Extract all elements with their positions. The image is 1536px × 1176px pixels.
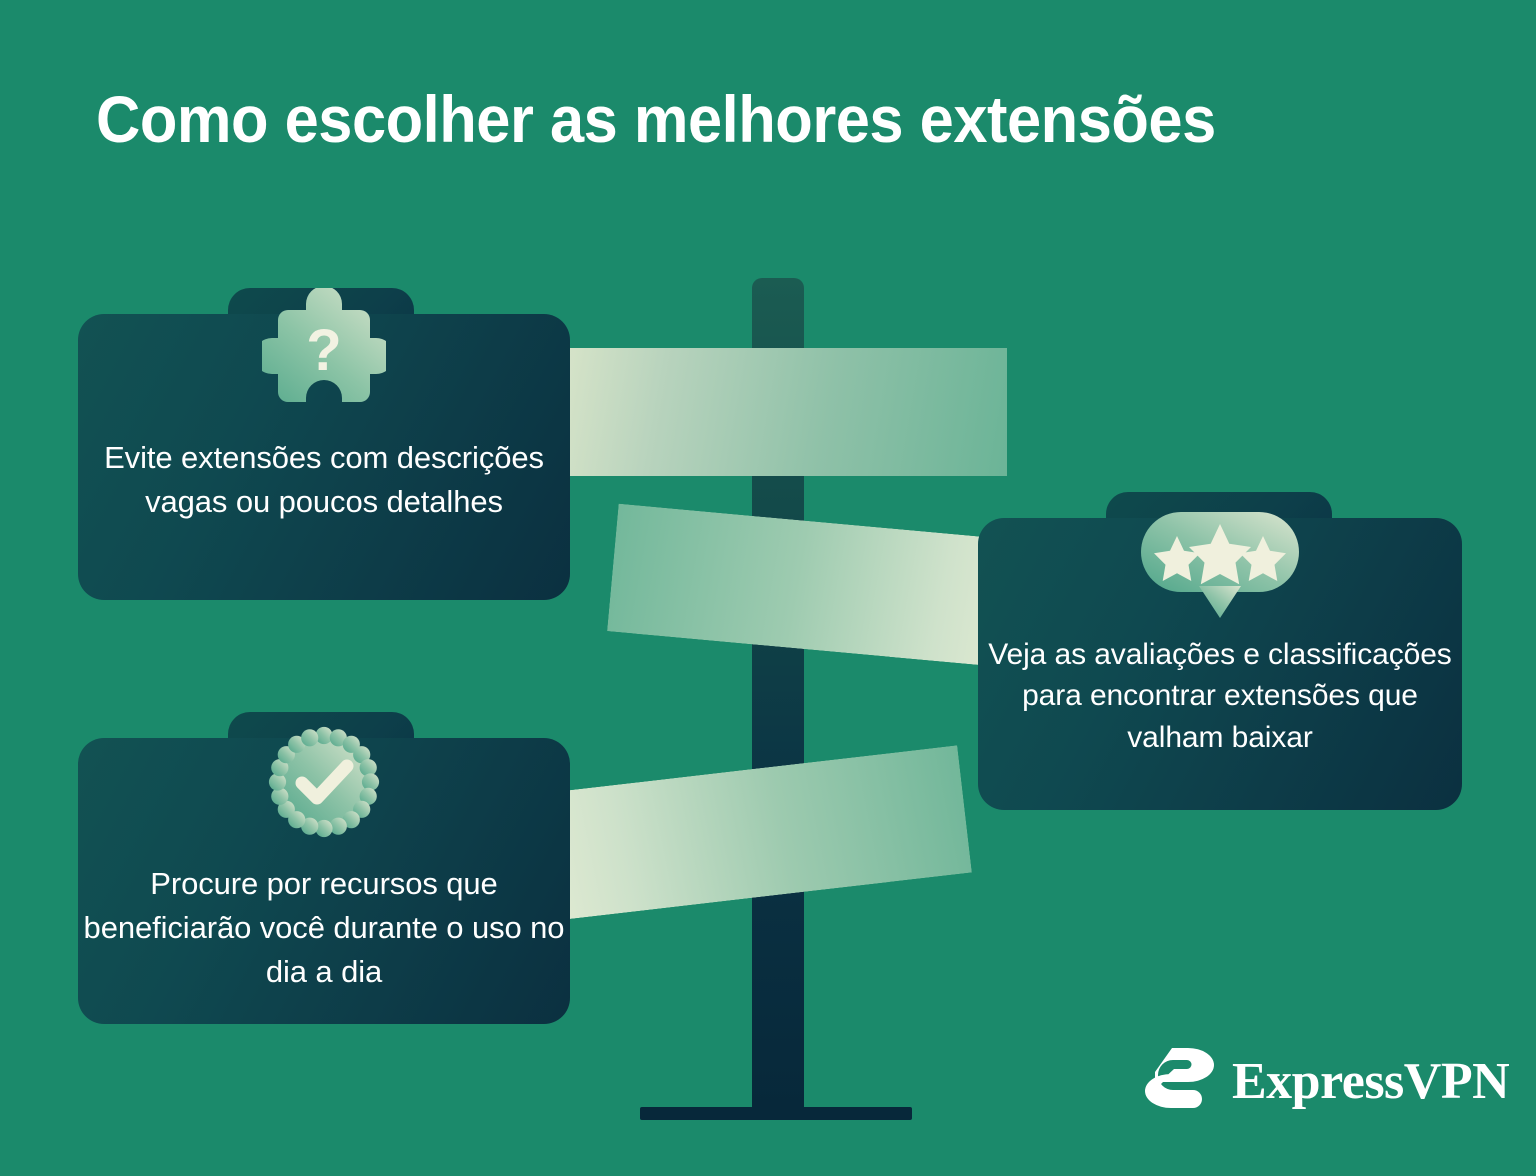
- expressvpn-logo: ExpressVPN: [1142, 1048, 1509, 1115]
- svg-text:?: ?: [306, 318, 341, 383]
- signpost-base: [640, 1107, 912, 1120]
- signpost-arrow-left-bottom: [523, 745, 972, 922]
- expressvpn-e-mark-icon: [1142, 1048, 1216, 1115]
- card-look-for-useful-features: Procure por recursos que beneficiarão vo…: [78, 712, 570, 1024]
- card-text: Evite extensões com descrições vagas ou …: [78, 436, 570, 524]
- card-text: Veja as avaliações e classificações para…: [978, 634, 1462, 758]
- expressvpn-wordmark: ExpressVPN: [1232, 1056, 1509, 1108]
- signpost-arrow-right-middle: [607, 504, 1027, 669]
- card-avoid-vague-descriptions: ? Evite extensões com descrições vagas o…: [78, 288, 570, 600]
- verified-badge-check-icon: [266, 724, 382, 845]
- card-text: Procure por recursos que beneficiarão vo…: [78, 862, 570, 994]
- card-check-reviews-ratings: Veja as avaliações e classificações para…: [978, 492, 1462, 810]
- signpost-arrow-left-top: [527, 348, 1007, 476]
- infographic-canvas: Como escolher as melhores extensões ?: [0, 0, 1536, 1176]
- puzzle-question-icon: ?: [262, 288, 386, 423]
- review-stars-bubble-icon: [1141, 512, 1299, 625]
- page-title: Como escolher as melhores extensões: [96, 86, 1361, 152]
